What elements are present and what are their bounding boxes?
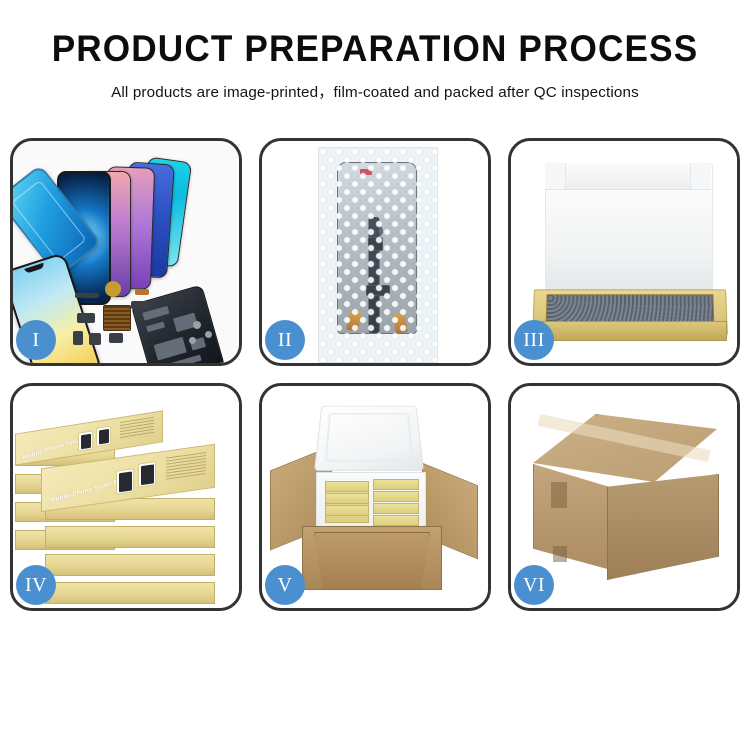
carton-seam — [551, 482, 567, 508]
box-artwork-phone — [78, 430, 93, 451]
retail-box — [373, 515, 419, 526]
phone-notch — [24, 263, 45, 274]
connector-component — [75, 293, 99, 298]
box-artwork-spec-lines — [120, 417, 154, 440]
packed-contents — [546, 294, 715, 324]
carton-left-face — [533, 464, 611, 570]
retail-box — [325, 481, 369, 492]
retail-box — [45, 526, 215, 548]
carton-front-panel — [314, 532, 430, 590]
flex-cable-component — [135, 289, 149, 295]
process-step-card-6[interactable]: VI — [508, 383, 740, 611]
small-part — [89, 333, 101, 345]
small-part — [109, 333, 123, 343]
process-step-card-1[interactable]: I — [10, 138, 242, 366]
kraft-box-front — [533, 321, 727, 341]
small-part — [77, 313, 95, 323]
step-badge-6: VI — [514, 565, 554, 605]
carton-right-face — [607, 474, 719, 580]
process-step-card-5[interactable]: V — [259, 383, 491, 611]
screw-component — [193, 321, 201, 329]
button-flex-component — [131, 301, 149, 309]
bubble-texture — [319, 148, 437, 362]
page-subtitle: All products are image-printed，film-coat… — [0, 80, 750, 102]
retail-box — [45, 554, 215, 576]
chip-component — [103, 305, 131, 331]
box-artwork-phone — [116, 468, 134, 495]
step-badge-5: V — [265, 565, 305, 605]
retail-box — [325, 505, 369, 516]
process-step-card-4[interactable]: Mobile Phone Spare Parts Mobile Phone Sp… — [10, 383, 242, 611]
styrofoam-lid — [314, 406, 424, 471]
retail-box — [373, 503, 419, 514]
retail-box — [373, 491, 419, 502]
bubble-wrap-bag — [318, 147, 438, 363]
step-badge-3: III — [514, 320, 554, 360]
step-badge-4: IV — [16, 565, 56, 605]
step-badge-2: II — [265, 320, 305, 360]
retail-box — [373, 479, 419, 490]
page-title: PRODUCT PREPARATION PROCESS — [19, 30, 732, 67]
carton-seam — [553, 546, 567, 562]
process-step-card-3[interactable]: III — [508, 138, 740, 366]
box-artwork-spec-lines — [166, 452, 206, 480]
page-header: PRODUCT PREPARATION PROCESS All products… — [0, 0, 750, 102]
foam-liner-lip — [545, 163, 711, 190]
screw-component — [205, 331, 212, 338]
small-part — [73, 331, 83, 345]
logic-board-illustration — [131, 284, 226, 363]
styrofoam-base — [316, 472, 426, 532]
retail-box — [325, 493, 369, 504]
process-step-grid: I II — [10, 138, 740, 611]
screw-component — [189, 337, 196, 344]
gold-component — [105, 281, 121, 297]
box-artwork-phone — [138, 461, 156, 488]
box-artwork-phone — [96, 426, 111, 447]
step-badge-1: I — [16, 320, 56, 360]
retail-box — [45, 582, 215, 604]
process-step-card-2[interactable]: II — [259, 138, 491, 366]
